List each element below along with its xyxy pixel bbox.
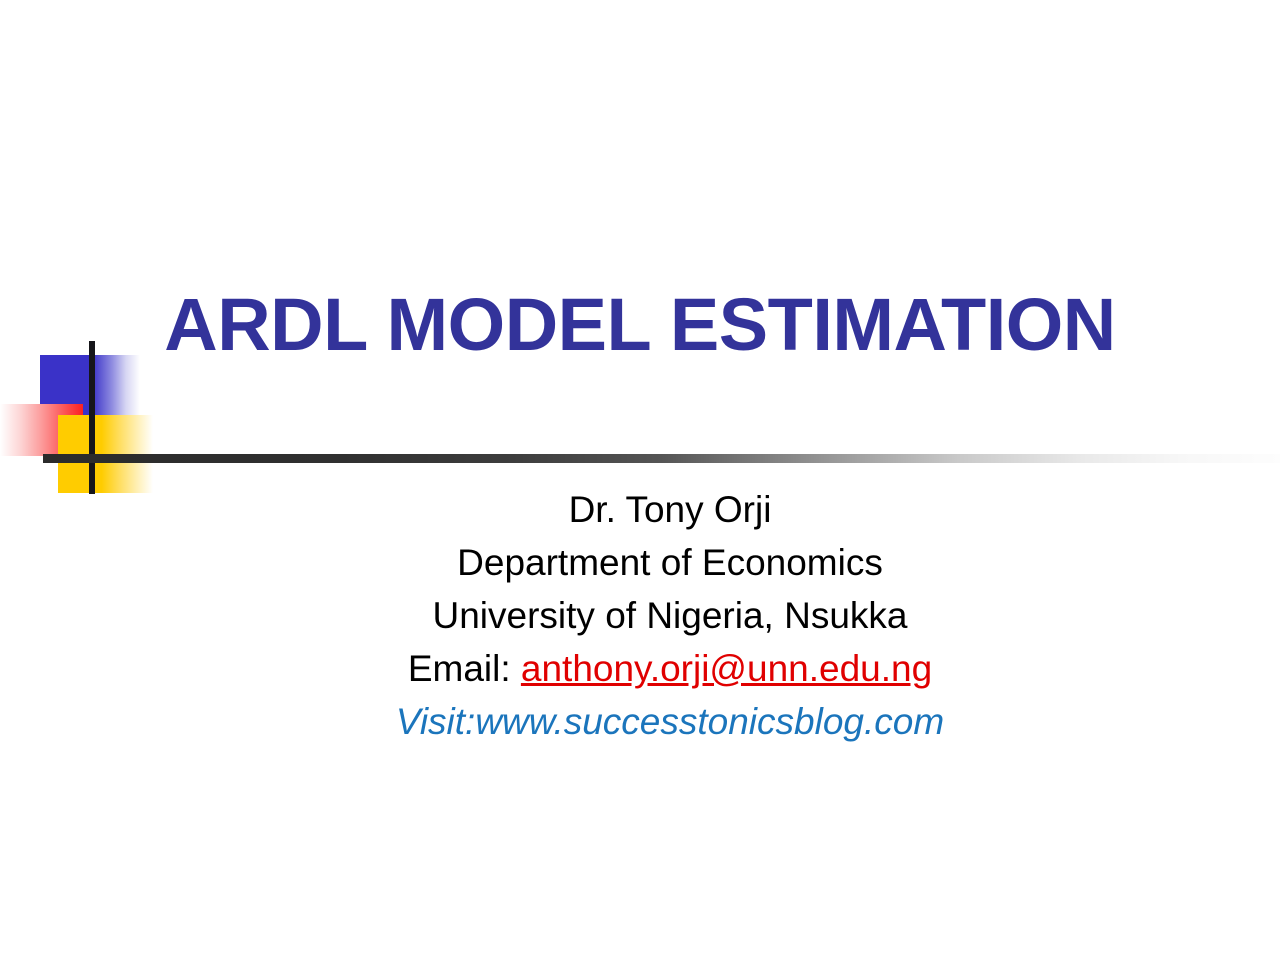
subtitle-text-block: Dr. Tony Orji Department of Economics Un… (220, 483, 1120, 748)
email-line: Email: anthony.orji@unn.edu.ng (220, 642, 1120, 695)
email-link[interactable]: anthony.orji@unn.edu.ng (521, 648, 932, 689)
institution-name: University of Nigeria, Nsukka (220, 589, 1120, 642)
website-link[interactable]: Visit:www.successtonicsblog.com (396, 701, 944, 742)
decorative-logo-cluster (0, 330, 330, 505)
presentation-slide: ARDL MODEL ESTIMATION Dr. Tony Orji Depa… (0, 0, 1280, 960)
presenter-name: Dr. Tony Orji (220, 483, 1120, 536)
department-name: Department of Economics (220, 536, 1120, 589)
website-line: Visit:www.successtonicsblog.com (220, 695, 1120, 748)
email-label: Email: (408, 648, 521, 689)
vertical-black-bar (89, 341, 95, 494)
horizontal-divider-rule (43, 454, 1280, 463)
